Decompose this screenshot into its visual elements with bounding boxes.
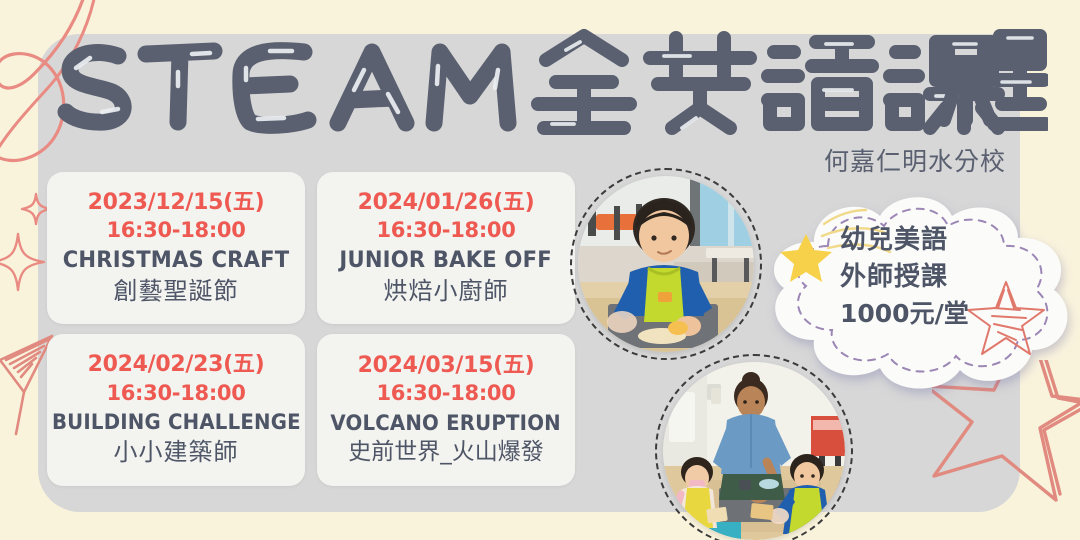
course-card[interactable]: 2023/12/15(五) 16:30-18:00 CHRISTMAS CRAF…: [47, 172, 305, 324]
course-title-zh: 史前世界_火山爆發: [348, 438, 544, 468]
cloud-line-3: 1000元/堂: [840, 296, 1010, 332]
course-card[interactable]: 2024/02/23(五) 16:30-18:00 BUILDING CHALL…: [47, 334, 305, 486]
cloud-text-block: 幼兒美語 外師授課 1000元/堂: [840, 222, 1010, 331]
poster-title-wrap: [46, 24, 1036, 144]
page-title: [46, 24, 1036, 144]
course-card[interactable]: 2024/01/26(五) 16:30-18:00 JUNIOR BAKE OF…: [317, 172, 575, 324]
course-time: 16:30-18:00: [106, 216, 245, 244]
course-date: 2024/03/15(五): [358, 352, 535, 380]
course-time: 16:30-18:00: [376, 379, 515, 407]
cloud-line-2: 外師授課: [840, 259, 1010, 296]
course-card[interactable]: 2024/03/15(五) 16:30-18:00 VOLCANO ERUPTI…: [317, 334, 575, 486]
cloud-callout: 幼兒美語 外師授課 1000元/堂: [754, 190, 1080, 402]
course-title-en: BUILDING CHALLENGE: [52, 409, 301, 436]
course-date: 2024/02/23(五): [88, 351, 265, 379]
course-date: 2023/12/15(五): [88, 189, 265, 217]
course-title-en: VOLCANO ERUPTION: [331, 410, 562, 437]
poster-root: 何嘉仁明水分校 2023/12/15(五) 16:30-18:00 CHRIST…: [0, 0, 1080, 540]
course-time: 16:30-18:00: [106, 379, 245, 407]
course-title-en: JUNIOR BAKE OFF: [340, 247, 552, 276]
poster-subtitle: 何嘉仁明水分校: [824, 142, 1006, 178]
cloud-line-1: 幼兒美語: [840, 222, 1010, 259]
course-title-zh: 烘焙小廚師: [384, 276, 509, 307]
course-title-en: CHRISTMAS CRAFT: [63, 247, 290, 276]
course-title-zh: 小小建築師: [114, 437, 239, 468]
course-time: 16:30-18:00: [376, 216, 515, 244]
course-date: 2024/01/26(五): [358, 189, 535, 217]
boy-photo-dashed-ring: [570, 168, 762, 360]
course-card-grid: 2023/12/15(五) 16:30-18:00 CHRISTMAS CRAF…: [47, 172, 575, 486]
course-title-zh: 創藝聖誕節: [114, 276, 239, 307]
